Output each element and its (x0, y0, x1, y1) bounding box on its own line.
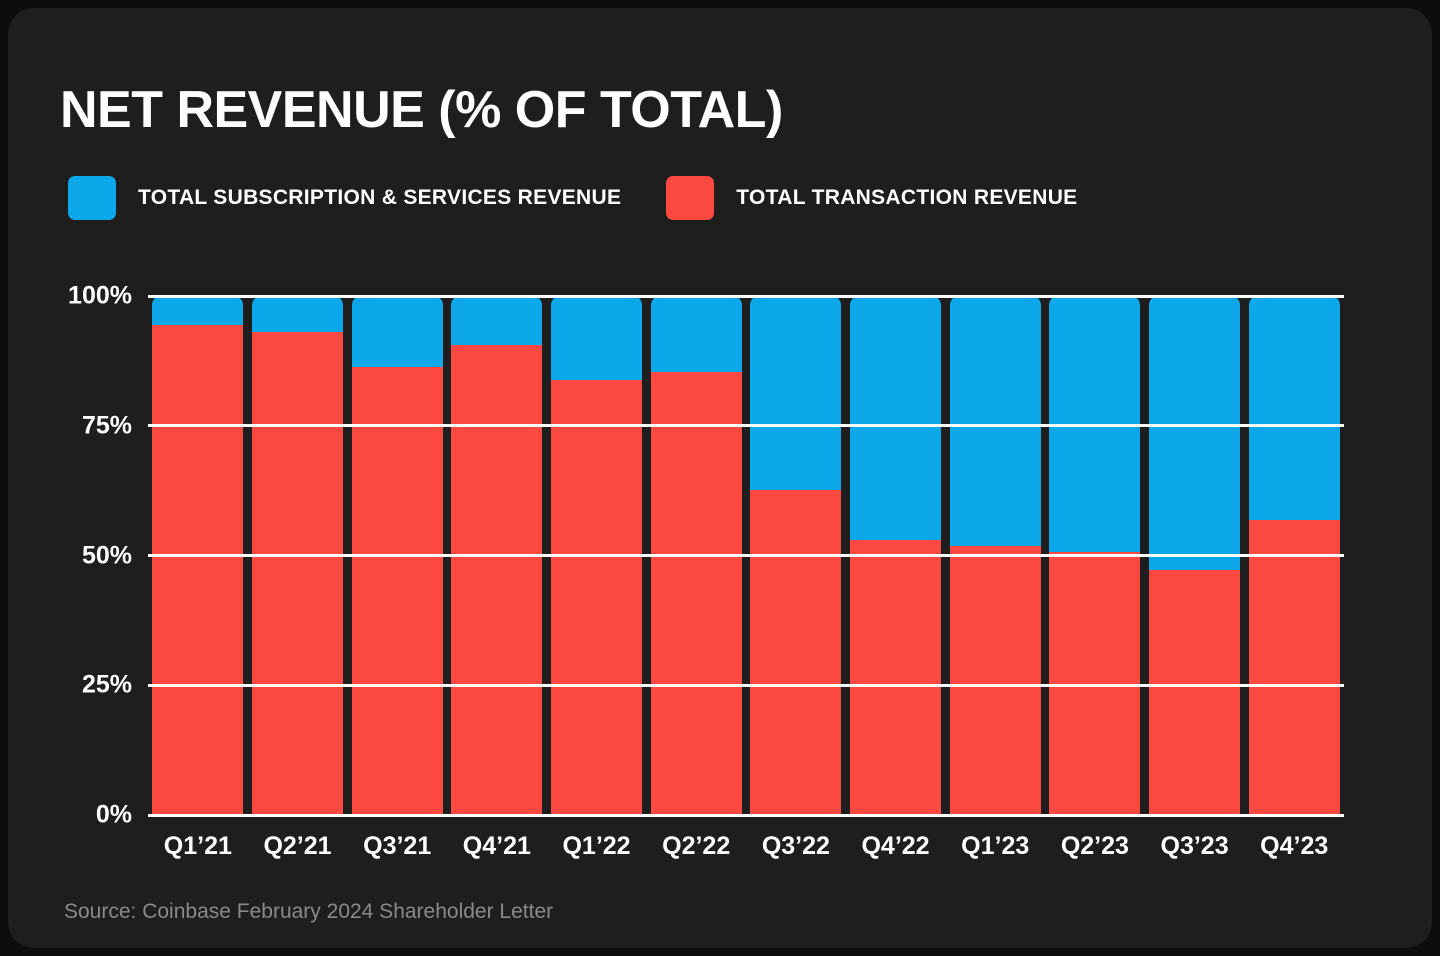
bar-segment-transaction (1049, 552, 1140, 815)
y-tick-100: 100% (8, 282, 132, 311)
blue-square-swatch-icon (68, 176, 116, 220)
x-tick-label: Q2’22 (646, 832, 746, 861)
bar-column[interactable] (547, 296, 647, 815)
bar-column[interactable] (347, 296, 447, 815)
bar-segment-transaction (152, 325, 243, 815)
bar-segment-transaction (352, 367, 443, 815)
y-tick-50: 50% (8, 541, 132, 570)
bar-column[interactable] (746, 296, 846, 815)
x-tick-label: Q1’22 (547, 832, 647, 861)
bar-series-container (148, 296, 1344, 815)
bar-segment-transaction (850, 540, 941, 815)
stacked-bar[interactable] (950, 296, 1041, 815)
stacked-bar[interactable] (352, 296, 443, 815)
plot-area (148, 296, 1344, 815)
x-tick-label: Q2’23 (1045, 832, 1145, 861)
x-tick-label: Q1’23 (945, 832, 1045, 861)
stacked-bar[interactable] (152, 296, 243, 815)
y-axis-labels: 100% 75% 50% 25% 0% (8, 296, 132, 815)
page-title: NET REVENUE (% OF TOTAL) (60, 80, 783, 140)
bar-column[interactable] (1045, 296, 1145, 815)
x-tick-label: Q4’21 (447, 832, 547, 861)
y-tick-75: 75% (8, 411, 132, 440)
x-tick-label: Q3’22 (746, 832, 846, 861)
x-tick-label: Q3’21 (347, 832, 447, 861)
stacked-bar[interactable] (750, 296, 841, 815)
bar-column[interactable] (945, 296, 1045, 815)
stacked-bar[interactable] (451, 296, 542, 815)
x-tick-label: Q4’23 (1244, 832, 1344, 861)
stacked-bar[interactable] (1249, 296, 1340, 815)
stacked-bar[interactable] (1149, 296, 1240, 815)
x-axis-labels: Q1’21Q2’21Q3’21Q4’21Q1’22Q2’22Q3’22Q4’22… (148, 832, 1344, 861)
y-tick-25: 25% (8, 671, 132, 700)
bar-column[interactable] (1145, 296, 1245, 815)
stacked-bar[interactable] (551, 296, 642, 815)
bar-segment-transaction (651, 372, 742, 815)
bar-column[interactable] (148, 296, 248, 815)
bar-segment-transaction (950, 546, 1041, 815)
legend-label-subscription: TOTAL SUBSCRIPTION & SERVICES REVENUE (138, 186, 621, 210)
bar-segment-transaction (1249, 520, 1340, 815)
bar-segment-transaction (451, 345, 542, 815)
bar-segment-transaction (750, 490, 841, 815)
stacked-bar[interactable] (850, 296, 941, 815)
x-tick-label: Q2’21 (248, 832, 348, 861)
chart-legend: TOTAL SUBSCRIPTION & SERVICES REVENUE TO… (68, 176, 1077, 220)
bar-column[interactable] (846, 296, 946, 815)
y-tick-0: 0% (8, 801, 132, 830)
red-square-swatch-icon (666, 176, 714, 220)
bar-column[interactable] (248, 296, 348, 815)
bar-segment-transaction (1149, 570, 1240, 815)
legend-item-transaction[interactable]: TOTAL TRANSACTION REVENUE (666, 176, 1077, 220)
legend-item-subscription[interactable]: TOTAL SUBSCRIPTION & SERVICES REVENUE (68, 176, 621, 220)
x-tick-label: Q3’23 (1145, 832, 1245, 861)
x-tick-label: Q1’21 (148, 832, 248, 861)
chart-card: NET REVENUE (% OF TOTAL) TOTAL SUBSCRIPT… (8, 8, 1432, 948)
bar-segment-transaction (551, 380, 642, 815)
stacked-bar[interactable] (252, 296, 343, 815)
bar-column[interactable] (1244, 296, 1344, 815)
source-caption: Source: Coinbase February 2024 Sharehold… (64, 900, 553, 924)
legend-label-transaction: TOTAL TRANSACTION REVENUE (736, 186, 1077, 210)
x-tick-label: Q4’22 (846, 832, 946, 861)
bar-column[interactable] (646, 296, 746, 815)
stacked-bar[interactable] (1049, 296, 1140, 815)
bar-segment-transaction (252, 332, 343, 815)
bar-column[interactable] (447, 296, 547, 815)
stacked-bar[interactable] (651, 296, 742, 815)
